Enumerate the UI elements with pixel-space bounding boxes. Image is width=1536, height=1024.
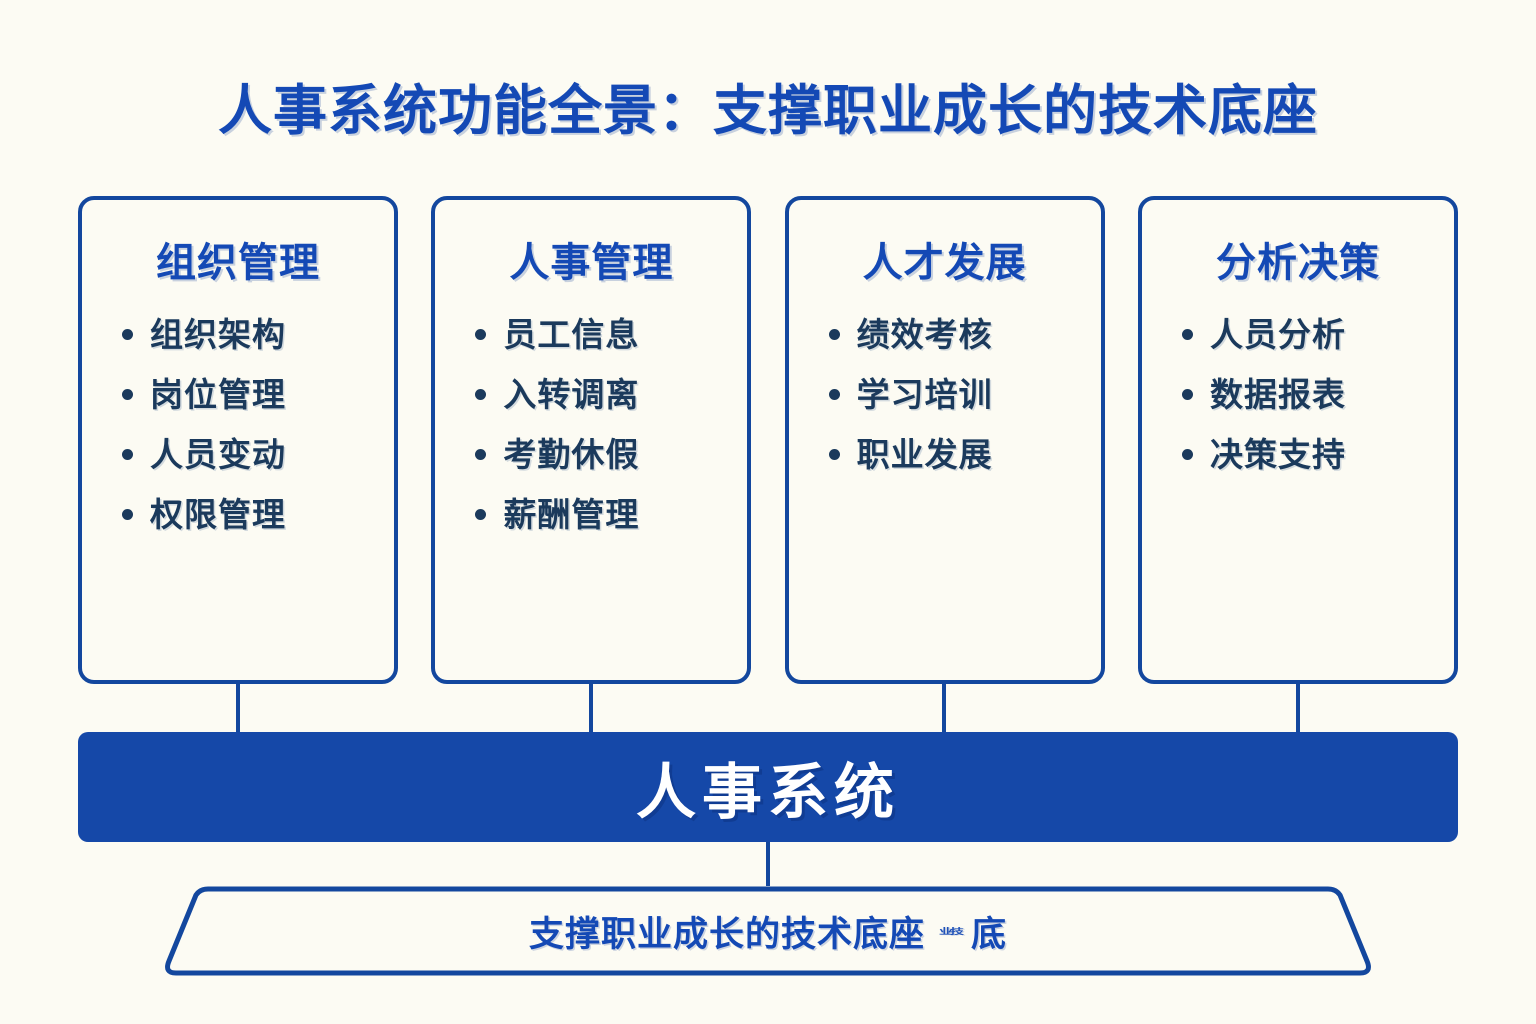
list-item-label: 组织架构 xyxy=(150,316,286,354)
list-item-label: 人员分析 xyxy=(1210,316,1346,354)
bullet-dot-icon xyxy=(829,329,840,340)
list-item[interactable]: 入转调离 xyxy=(475,376,747,414)
bullet-dot-icon xyxy=(475,329,486,340)
card-title: 人才发展 xyxy=(789,230,1101,288)
page-title: 人事系统功能全景：支撑职业成长的技术底座 xyxy=(0,66,1536,145)
card-item-list: 人员分析 数据报表 决策支持 xyxy=(1142,316,1454,474)
list-item[interactable]: 人员变动 xyxy=(122,436,394,474)
bullet-dot-icon xyxy=(1182,389,1193,400)
card-item-list: 组织架构 岗位管理 人员变动 权限管理 xyxy=(82,316,394,534)
category-cards-row: 组织管理 组织架构 岗位管理 人员变动 权限管理 xyxy=(78,196,1458,684)
connector-line-card4 xyxy=(1296,684,1300,732)
bullet-dot-icon xyxy=(1182,449,1193,460)
category-card-personnel[interactable]: 人事管理 员工信息 入转调离 考勤休假 薪酬管理 xyxy=(431,196,751,684)
bullet-dot-icon xyxy=(829,449,840,460)
bullet-dot-icon xyxy=(475,389,486,400)
card-item-list: 员工信息 入转调离 考勤休假 薪酬管理 xyxy=(435,316,747,534)
category-card-organization[interactable]: 组织管理 组织架构 岗位管理 人员变动 权限管理 xyxy=(78,196,398,684)
list-item-label: 员工信息 xyxy=(503,316,639,354)
list-item-label: 数据报表 xyxy=(1210,376,1346,414)
list-item-label: 职业发展 xyxy=(857,436,993,474)
list-item-label: 入转调离 xyxy=(503,376,639,414)
list-item[interactable]: 薪酬管理 xyxy=(475,496,747,534)
connector-line-footer xyxy=(766,842,770,886)
list-item[interactable]: 权限管理 xyxy=(122,496,394,534)
list-item-label: 人员变动 xyxy=(150,436,286,474)
card-item-list: 绩效考核 学习培训 职业发展 xyxy=(789,316,1101,474)
footer-tagline-text: 支撑职业成长的技术底座 xyxy=(529,906,925,957)
category-card-talent[interactable]: 人才发展 绩效考核 学习培训 职业发展 xyxy=(785,196,1105,684)
list-item-label: 薪酬管理 xyxy=(503,496,639,534)
list-item[interactable]: 员工信息 xyxy=(475,316,747,354)
list-item[interactable]: 考勤休假 xyxy=(475,436,747,474)
bullet-dot-icon xyxy=(122,329,133,340)
list-item-label: 权限管理 xyxy=(150,496,286,534)
list-item-label: 岗位管理 xyxy=(150,376,286,414)
connector-line-card3 xyxy=(942,684,946,732)
list-item[interactable]: 人员分析 xyxy=(1182,316,1454,354)
list-item[interactable]: 绩效考核 xyxy=(829,316,1101,354)
footer-tail-text: 底 xyxy=(971,906,1007,957)
footer-glitch-text: 业技 xyxy=(939,926,961,937)
bullet-dot-icon xyxy=(1182,329,1193,340)
list-item-label: 考勤休假 xyxy=(503,436,639,474)
list-item-label: 决策支持 xyxy=(1210,436,1346,474)
list-item[interactable]: 数据报表 xyxy=(1182,376,1454,414)
list-item-label: 绩效考核 xyxy=(857,316,993,354)
footer-tagline-row: 支撑职业成长的技术底座 业技 底 xyxy=(160,884,1376,978)
main-system-banner-label: 人事系统 xyxy=(636,744,900,831)
category-card-analytics[interactable]: 分析决策 人员分析 数据报表 决策支持 xyxy=(1138,196,1458,684)
connector-line-card2 xyxy=(589,684,593,732)
card-title: 组织管理 xyxy=(82,230,394,288)
bullet-dot-icon xyxy=(829,389,840,400)
connector-line-card1 xyxy=(236,684,240,732)
card-title: 分析决策 xyxy=(1142,230,1454,288)
list-item[interactable]: 岗位管理 xyxy=(122,376,394,414)
list-item-label: 学习培训 xyxy=(857,376,993,414)
footer-tagline-banner[interactable]: 支撑职业成长的技术底座 业技 底 xyxy=(160,884,1376,978)
card-title: 人事管理 xyxy=(435,230,747,288)
list-item[interactable]: 组织架构 xyxy=(122,316,394,354)
bullet-dot-icon xyxy=(122,509,133,520)
list-item[interactable]: 职业发展 xyxy=(829,436,1101,474)
bullet-dot-icon xyxy=(122,449,133,460)
bullet-dot-icon xyxy=(475,509,486,520)
diagram-canvas: 人事系统功能全景：支撑职业成长的技术底座 组织管理 组织架构 岗位管理 人员变动 xyxy=(0,0,1536,1024)
bullet-dot-icon xyxy=(122,389,133,400)
list-item[interactable]: 决策支持 xyxy=(1182,436,1454,474)
main-system-banner[interactable]: 人事系统 xyxy=(78,732,1458,842)
bullet-dot-icon xyxy=(475,449,486,460)
list-item[interactable]: 学习培训 xyxy=(829,376,1101,414)
